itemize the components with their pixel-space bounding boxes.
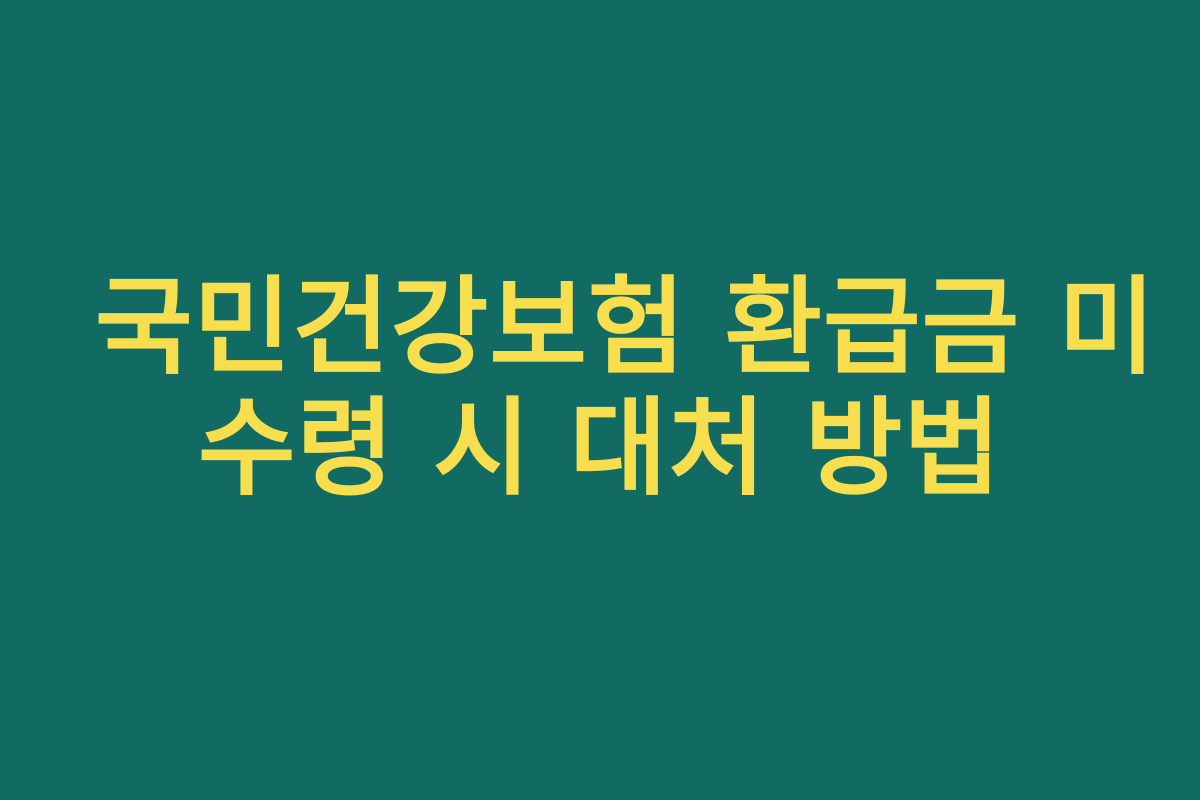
page-title-line-2: 수령 시 대처 방법 <box>95 388 1105 509</box>
page-title-line-1: 국민건강보험 환급금 미 <box>95 267 1105 388</box>
title-banner: 국민건강보험 환급금 미 수령 시 대처 방법 <box>0 0 1200 800</box>
page-title: 국민건강보험 환급금 미 수령 시 대처 방법 <box>95 267 1105 509</box>
